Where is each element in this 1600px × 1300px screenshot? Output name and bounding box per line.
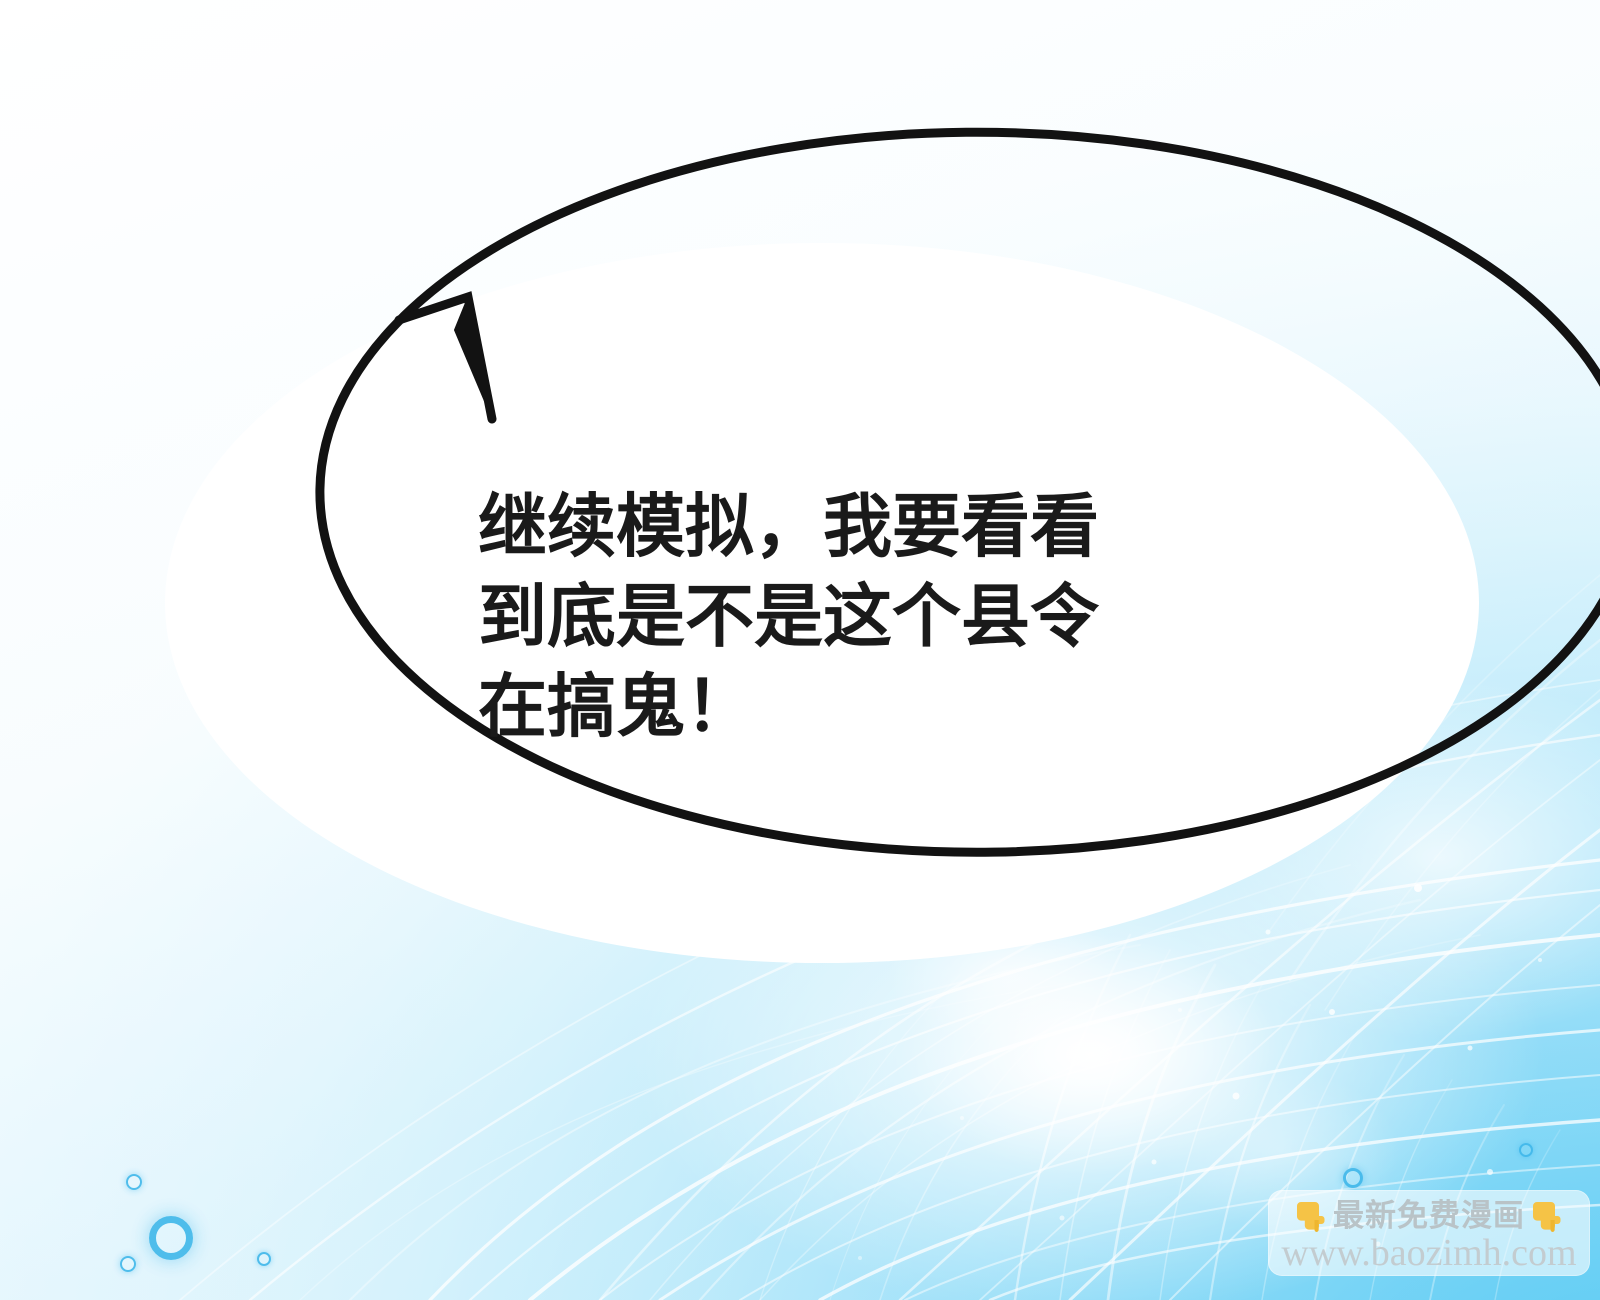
watermark-url[interactable]: www.baozimh.com [1268,1232,1590,1274]
speech-balloon-text: 继续模拟，我要看看 到底是不是这个县令 在搞鬼！ [478,482,1198,752]
comic-panel: 继续模拟，我要看看 到底是不是这个县令 在搞鬼！ 最新免费漫画 www.baoz… [0,0,1600,1300]
pointing-down-hand-icon-right [1529,1198,1565,1234]
watermark-label: 最新免费漫画 [1333,1201,1525,1232]
site-watermark[interactable]: 最新免费漫画 www.baozimh.com [1268,1190,1590,1276]
pointing-down-hand-icon-left [1293,1198,1329,1234]
